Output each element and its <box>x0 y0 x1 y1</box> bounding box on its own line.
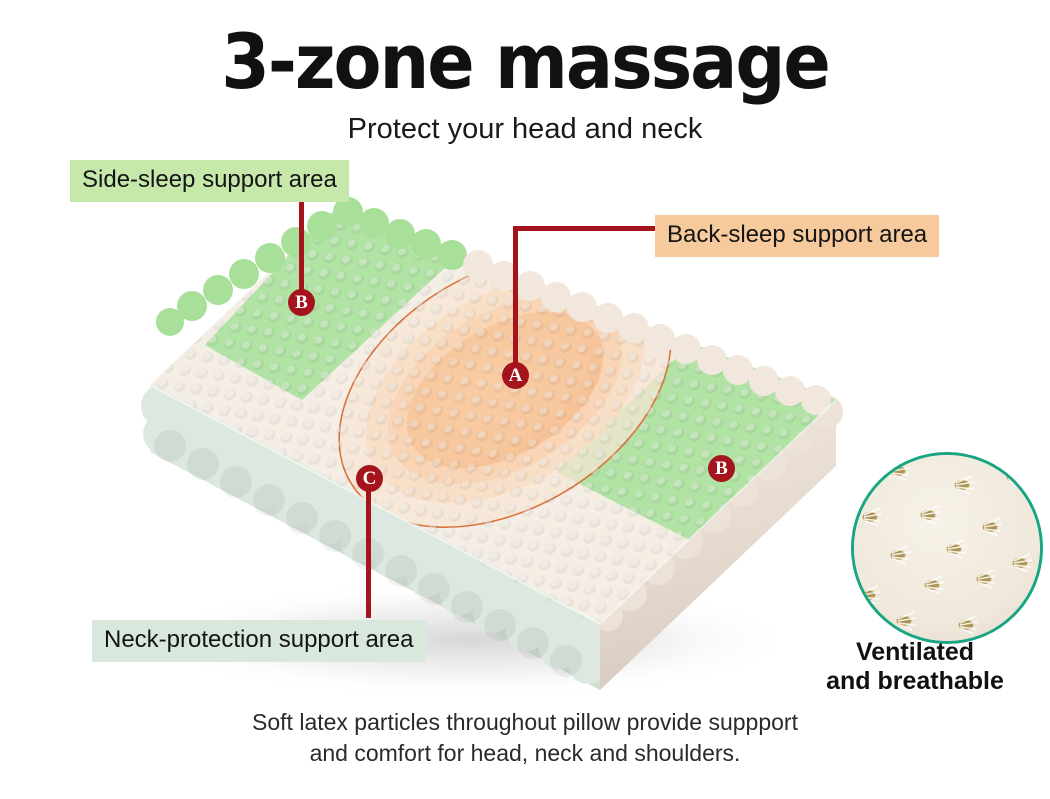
page-title: 3-zone massage <box>42 22 1008 102</box>
ventilation-holes-graphic <box>854 455 1040 641</box>
footer-line-1: Soft latex particles throughout pillow p… <box>0 707 1050 738</box>
footer-caption: Soft latex particles throughout pillow p… <box>0 707 1050 769</box>
marker-c: C <box>356 465 383 492</box>
label-side-sleep-support: Side-sleep support area <box>70 160 349 202</box>
marker-b-right: B <box>708 455 735 482</box>
label-neck-protection-support: Neck-protection support area <box>92 620 426 662</box>
footer-line-2: and comfort for head, neck and shoulders… <box>0 738 1050 769</box>
ventilation-caption-line2: and breathable <box>790 667 1040 696</box>
ventilation-caption-line1: Ventilated <box>790 638 1040 667</box>
ventilation-caption: Ventilated and breathable <box>790 638 1040 696</box>
marker-a: A <box>502 362 529 389</box>
label-back-sleep-support: Back-sleep support area <box>655 215 939 257</box>
leader-line-b-top <box>299 200 304 296</box>
leader-line-c <box>366 482 371 618</box>
marker-b-top: B <box>288 289 315 316</box>
infographic-canvas: 3-zone massage Protect your head and nec… <box>0 0 1050 799</box>
leader-line-a-vertical <box>513 226 518 371</box>
ventilation-inset-circle <box>851 452 1043 644</box>
page-subtitle: Protect your head and neck <box>0 112 1050 146</box>
leader-line-a-horizontal <box>513 226 658 231</box>
